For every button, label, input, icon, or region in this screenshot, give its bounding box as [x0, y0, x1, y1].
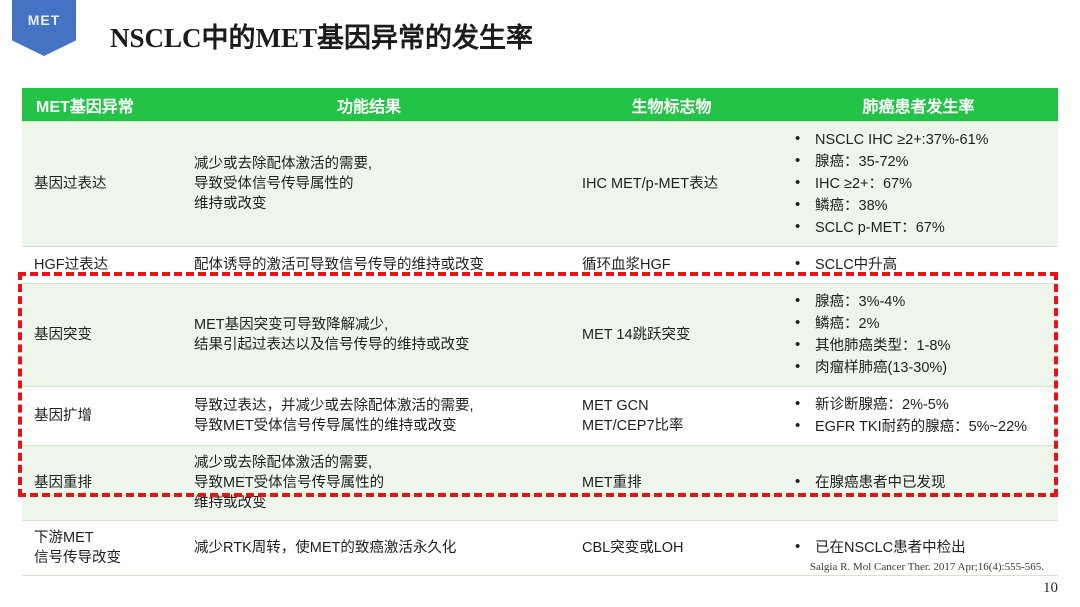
table-header: MET基因异常 功能结果 生物标志物 肺癌患者发生率	[22, 88, 1058, 122]
rate-bullet-item: SCLC p-MET：67%	[789, 217, 1052, 239]
met-abnormality-table: MET基因异常 功能结果 生物标志物 肺癌患者发生率 基因过表达 减少或去除配体…	[22, 88, 1058, 576]
cell-abnormality: 基因扩增	[22, 387, 174, 446]
table-row: HGF过表达 配体诱导的激活可导致信号传导的维持或改变 循环血浆HGF SCLC…	[22, 247, 1058, 284]
cell-rate: SCLC中升高	[779, 247, 1058, 284]
table-row: 基因过表达 减少或去除配体激活的需要, 导致受体信号传导属性的 维持或改变 IH…	[22, 122, 1058, 247]
rate-bullet-item: 腺癌：3%-4%	[789, 291, 1052, 313]
rate-bullet-item: IHC ≥2+：67%	[789, 173, 1052, 195]
cell-function: 减少或去除配体激活的需要, 导致受体信号传导属性的 维持或改变	[174, 122, 564, 247]
met-logo-badge: MET	[12, 0, 76, 56]
rate-bullet-item: EGFR TKI耐药的腺癌：5%~22%	[789, 416, 1052, 438]
rate-bullet-list: 新诊断腺癌：2%-5%EGFR TKI耐药的腺癌：5%~22%	[789, 394, 1052, 438]
cell-biomarker: MET重排	[564, 446, 779, 521]
rate-bullet-list: 在腺癌患者中已发现	[789, 472, 1052, 494]
rate-bullet-item: 已在NSCLC患者中检出	[789, 537, 1052, 559]
page-title: NSCLC中的MET基因异常的发生率	[110, 16, 533, 55]
rate-bullet-item: 鳞癌：2%	[789, 313, 1052, 335]
cell-biomarker: IHC MET/p-MET表达	[564, 122, 779, 247]
table-row: 基因重排 减少或去除配体激活的需要, 导致MET受体信号传导属性的 维持或改变 …	[22, 446, 1058, 521]
rate-bullet-list: 腺癌：3%-4%鳞癌：2%其他肺癌类型：1-8%肉瘤样肺癌(13-30%)	[789, 291, 1052, 379]
rate-bullet-item: 腺癌：35-72%	[789, 151, 1052, 173]
rate-bullet-item: 新诊断腺癌：2%-5%	[789, 394, 1052, 416]
table-row: 基因扩增 导致过表达，并减少或去除配体激活的需要, 导致MET受体信号传导属性的…	[22, 387, 1058, 446]
column-header-rate: 肺癌患者发生率	[779, 88, 1058, 122]
cell-abnormality: 基因重排	[22, 446, 174, 521]
cell-abnormality: 基因过表达	[22, 122, 174, 247]
met-logo-label: MET	[28, 12, 61, 28]
column-header-biomarker: 生物标志物	[564, 88, 779, 122]
column-header-abnormality: MET基因异常	[22, 88, 174, 122]
rate-bullet-item: NSCLC IHC ≥2+:37%-61%	[789, 129, 1052, 151]
cell-function: 减少RTK周转，使MET的致癌激活永久化	[174, 521, 564, 576]
cell-biomarker: MET GCN MET/CEP7比率	[564, 387, 779, 446]
cell-biomarker: 循环血浆HGF	[564, 247, 779, 284]
rate-bullet-list: SCLC中升高	[789, 254, 1052, 276]
met-abnormality-table-wrapper: MET基因异常 功能结果 生物标志物 肺癌患者发生率 基因过表达 减少或去除配体…	[22, 88, 1058, 576]
rate-bullet-item: 在腺癌患者中已发现	[789, 472, 1052, 494]
rate-bullet-item: 其他肺癌类型：1-8%	[789, 335, 1052, 357]
cell-rate: NSCLC IHC ≥2+:37%-61%腺癌：35-72%IHC ≥2+：67…	[779, 122, 1058, 247]
cell-function: 减少或去除配体激活的需要, 导致MET受体信号传导属性的 维持或改变	[174, 446, 564, 521]
rate-bullet-list: 已在NSCLC患者中检出	[789, 537, 1052, 559]
rate-bullet-item: 鳞癌：38%	[789, 195, 1052, 217]
page-number: 10	[1043, 580, 1058, 597]
cell-biomarker: CBL突变或LOH	[564, 521, 779, 576]
cell-abnormality: 基因突变	[22, 284, 174, 387]
cell-rate: 新诊断腺癌：2%-5%EGFR TKI耐药的腺癌：5%~22%	[779, 387, 1058, 446]
column-header-function: 功能结果	[174, 88, 564, 122]
table-header-row: MET基因异常 功能结果 生物标志物 肺癌患者发生率	[22, 88, 1058, 122]
table-body: 基因过表达 减少或去除配体激活的需要, 导致受体信号传导属性的 维持或改变 IH…	[22, 122, 1058, 576]
cell-abnormality: HGF过表达	[22, 247, 174, 284]
table-row: 基因突变 MET基因突变可导致降解减少, 结果引起过表达以及信号传导的维持或改变…	[22, 284, 1058, 387]
rate-bullet-item: 肉瘤样肺癌(13-30%)	[789, 357, 1052, 379]
cell-biomarker: MET 14跳跃突变	[564, 284, 779, 387]
cell-function: 配体诱导的激活可导致信号传导的维持或改变	[174, 247, 564, 284]
rate-bullet-list: NSCLC IHC ≥2+:37%-61%腺癌：35-72%IHC ≥2+：67…	[789, 129, 1052, 239]
cell-rate: 在腺癌患者中已发现	[779, 446, 1058, 521]
citation-text: Salgia R. Mol Cancer Ther. 2017 Apr;16(4…	[810, 561, 1044, 573]
rate-bullet-item: SCLC中升高	[789, 254, 1052, 276]
cell-abnormality: 下游MET 信号传导改变	[22, 521, 174, 576]
cell-rate: 腺癌：3%-4%鳞癌：2%其他肺癌类型：1-8%肉瘤样肺癌(13-30%)	[779, 284, 1058, 387]
cell-function: 导致过表达，并减少或去除配体激活的需要, 导致MET受体信号传导属性的维持或改变	[174, 387, 564, 446]
cell-function: MET基因突变可导致降解减少, 结果引起过表达以及信号传导的维持或改变	[174, 284, 564, 387]
